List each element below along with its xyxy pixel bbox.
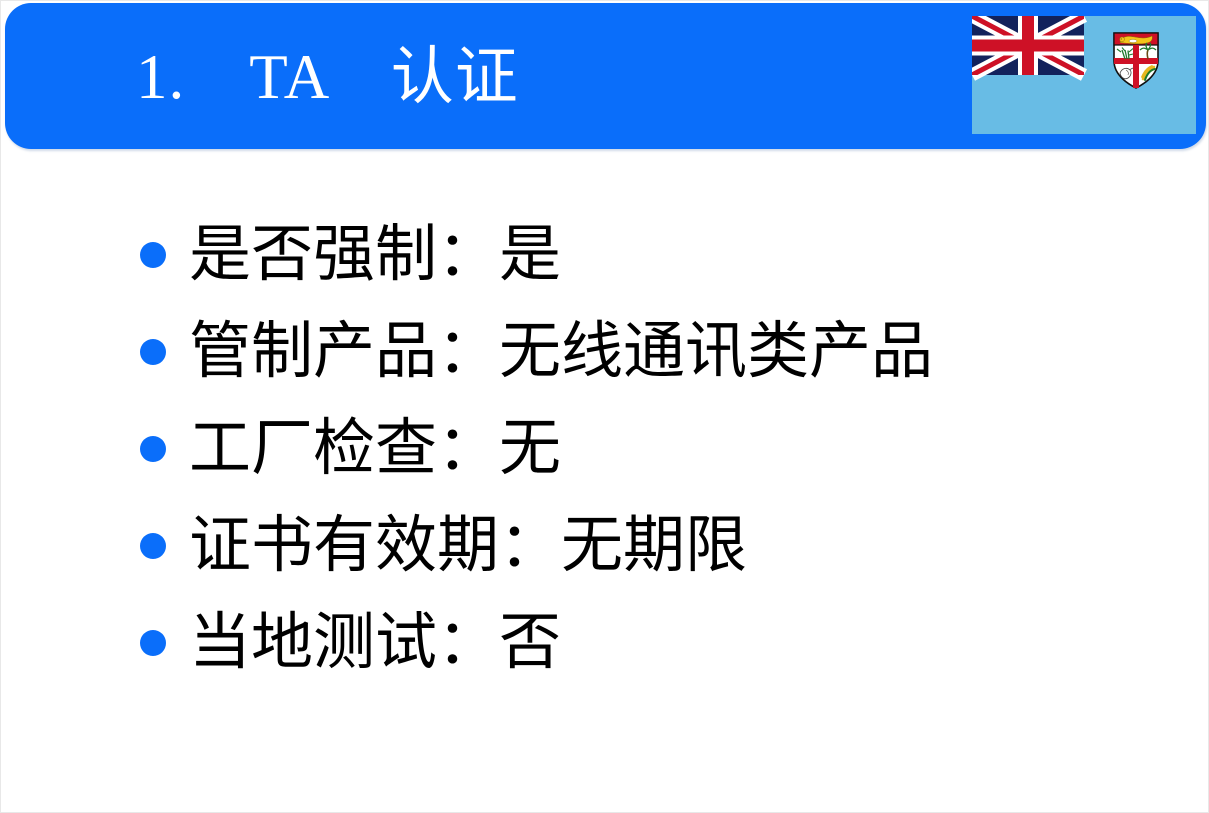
slide-title-bar: 1. TA 认证: [5, 3, 1206, 149]
bullet-list: 是否强制：是 管制产品：无线通讯类产品 工厂检查：无 证书有效期：无期限 当地测…: [1, 206, 1209, 691]
bullet-text: 管制产品：无线通讯类产品: [189, 314, 933, 390]
bullet-dot-icon: [140, 630, 166, 656]
bullet-dot-icon: [140, 436, 166, 462]
list-item: 是否强制：是: [1, 206, 1209, 303]
list-item: 当地测试：否: [1, 594, 1209, 691]
list-item: 证书有效期：无期限: [1, 497, 1209, 594]
slide-canvas: 1. TA 认证: [0, 0, 1209, 813]
list-item: 管制产品：无线通讯类产品: [1, 303, 1209, 400]
bullet-text: 当地测试：否: [189, 605, 561, 681]
bullet-dot-icon: [140, 339, 166, 365]
bullet-dot-icon: [140, 242, 166, 268]
bullet-text: 是否强制：是: [189, 217, 561, 293]
list-item: 工厂检查：无: [1, 400, 1209, 497]
bullet-text: 工厂检查：无: [189, 411, 561, 487]
fiji-flag: [972, 16, 1196, 134]
union-jack-canton: [972, 16, 1084, 75]
bullet-text: 证书有效期：无期限: [189, 508, 747, 584]
bullet-dot-icon: [140, 533, 166, 559]
page-title: 1. TA 认证: [136, 31, 519, 123]
